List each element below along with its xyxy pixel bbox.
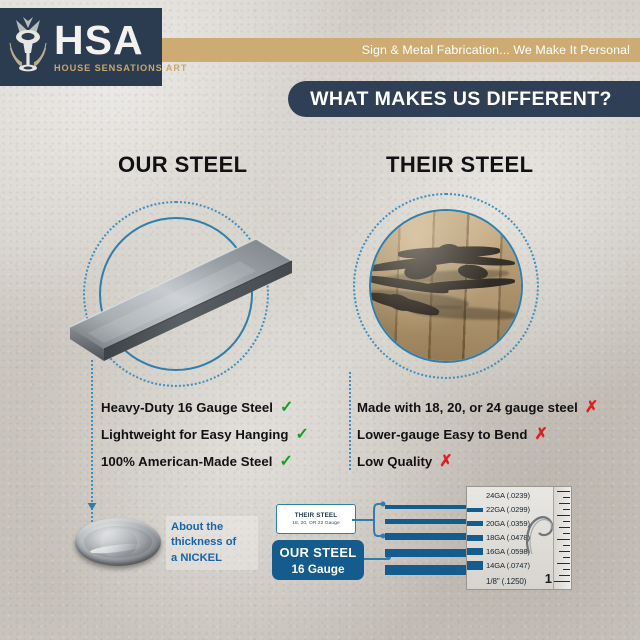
nickel-caption-line-2: thickness of: [171, 535, 253, 550]
nickel-caption-line-1: About the: [171, 520, 253, 535]
nickel-caption-line-3: a NICKEL: [171, 551, 253, 566]
tagline-text: Sign & Metal Fabrication... We Make It P…: [362, 43, 630, 57]
cross-icon: ✗: [439, 454, 452, 470]
page-title: WHAT MAKES US DIFFERENT?: [310, 88, 612, 111]
gauge-ruler-panel: 24GA (.0239) 22GA (.0299) 20GA (.0359) 1…: [466, 486, 572, 590]
cross-icon: ✗: [534, 427, 547, 443]
list-item: Made with 18, 20, or 24 gauge steel ✗: [357, 394, 598, 421]
arrow-down-icon: [86, 498, 98, 510]
list-item: Low Quality ✗: [357, 448, 598, 475]
our-chip-title: OUR STEEL: [279, 545, 356, 560]
brand-subtitle: HOUSE SENSATIONS ART: [54, 64, 187, 73]
check-icon: ✓: [296, 427, 309, 443]
torch-emblem-icon: [6, 15, 50, 79]
our-chip-subtitle: 16 Gauge: [291, 562, 344, 576]
bullet-label: Heavy-Duty 16 Gauge Steel: [101, 400, 273, 415]
gauge-label: 1/8" (.1250): [483, 577, 526, 586]
our-steel-bullets: Heavy-Duty 16 Gauge Steel ✓ Lightweight …: [101, 394, 309, 475]
steel-flat-bar-image: [60, 215, 300, 365]
list-item: Heavy-Duty 16 Gauge Steel ✓: [101, 394, 309, 421]
their-steel-bullets: Made with 18, 20, or 24 gauge steel ✗ Lo…: [357, 394, 598, 475]
their-steel-photo: [369, 209, 523, 363]
gauge-swatch: [467, 548, 483, 555]
bullet-label: 100% American-Made Steel: [101, 454, 273, 469]
their-chip-subtitle: 18, 20, OR 22 Gauge: [292, 521, 340, 526]
gauge-bar: [385, 505, 475, 509]
bullet-label: Lightweight for Easy Hanging: [101, 427, 289, 442]
gauge-swatch: [467, 494, 483, 497]
bullet-label: Made with 18, 20, or 24 gauge steel: [357, 400, 578, 415]
ruler-inch-mark: 1: [545, 571, 552, 586]
gauge-swatch: [467, 508, 483, 512]
check-icon: ✓: [280, 400, 293, 416]
brand-logo[interactable]: HSA HOUSE SENSATIONS ART: [0, 8, 162, 86]
right-connector-line: [349, 372, 351, 470]
gauge-swatch: [467, 561, 483, 570]
gauge-swatch: [467, 535, 483, 541]
infographic-page: HSA HOUSE SENSATIONS ART Sign & Metal Fa…: [0, 0, 640, 640]
list-item: 100% American-Made Steel ✓: [101, 448, 309, 475]
gauge-bar: [385, 549, 475, 557]
nickel-caption: About the thickness of a NICKEL: [166, 516, 258, 570]
their-steel-heading: THEIR STEEL: [386, 152, 533, 178]
cross-icon: ✗: [585, 400, 598, 416]
ruler-edge: [553, 487, 571, 590]
gauge-bar: [385, 565, 475, 575]
nickel-coin-icon: [75, 518, 161, 566]
their-steel-chip: THEIR STEEL 18, 20, OR 22 Gauge: [276, 504, 356, 534]
gauge-bar: [385, 533, 475, 540]
check-icon: ✓: [280, 454, 293, 470]
left-connector-line: [91, 360, 93, 542]
gauge-swatch: [467, 521, 483, 526]
list-item: Lightweight for Easy Hanging ✓: [101, 421, 309, 448]
wood-plank-background: [371, 211, 521, 361]
bullet-label: Lower-gauge Easy to Bend: [357, 427, 527, 442]
gauge-label: 14GA (.0747): [483, 561, 530, 570]
hook-illustration: [523, 511, 557, 557]
gauge-bar: [385, 519, 475, 524]
gauge-thickness-bars: [385, 503, 475, 583]
our-steel-heading: OUR STEEL: [118, 152, 248, 178]
list-item: Lower-gauge Easy to Bend ✗: [357, 421, 598, 448]
their-chip-title: THEIR STEEL: [295, 512, 337, 519]
title-banner: WHAT MAKES US DIFFERENT?: [288, 81, 640, 117]
bullet-label: Low Quality: [357, 454, 432, 469]
gauge-swatch: [467, 576, 483, 587]
gauge-label: 24GA (.0239): [483, 491, 530, 500]
our-steel-chip: OUR STEEL 16 Gauge: [272, 540, 364, 580]
tagline-bar: Sign & Metal Fabrication... We Make It P…: [162, 38, 640, 62]
